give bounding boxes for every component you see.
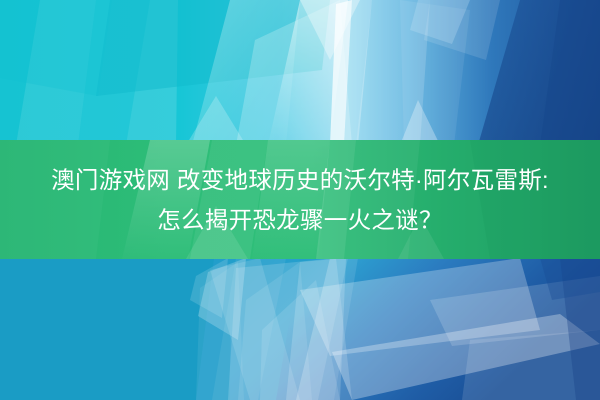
promo-banner: 澳门游戏网 改变地球历史的沃尔特·阿尔瓦雷斯: 怎么揭开恐龙骤一火之谜？ <box>0 0 600 400</box>
title-line-1: 澳门游戏网 改变地球历史的沃尔特·阿尔瓦雷斯: <box>51 160 549 200</box>
title-line-2: 怎么揭开恐龙骤一火之谜？ <box>157 200 443 240</box>
title-text-block: 澳门游戏网 改变地球历史的沃尔特·阿尔瓦雷斯: 怎么揭开恐龙骤一火之谜？ <box>0 140 600 259</box>
title-band: 澳门游戏网 改变地球历史的沃尔特·阿尔瓦雷斯: 怎么揭开恐龙骤一火之谜？ <box>0 140 600 259</box>
top-background-shapes <box>0 0 600 145</box>
bottom-background-shapes <box>0 258 600 400</box>
